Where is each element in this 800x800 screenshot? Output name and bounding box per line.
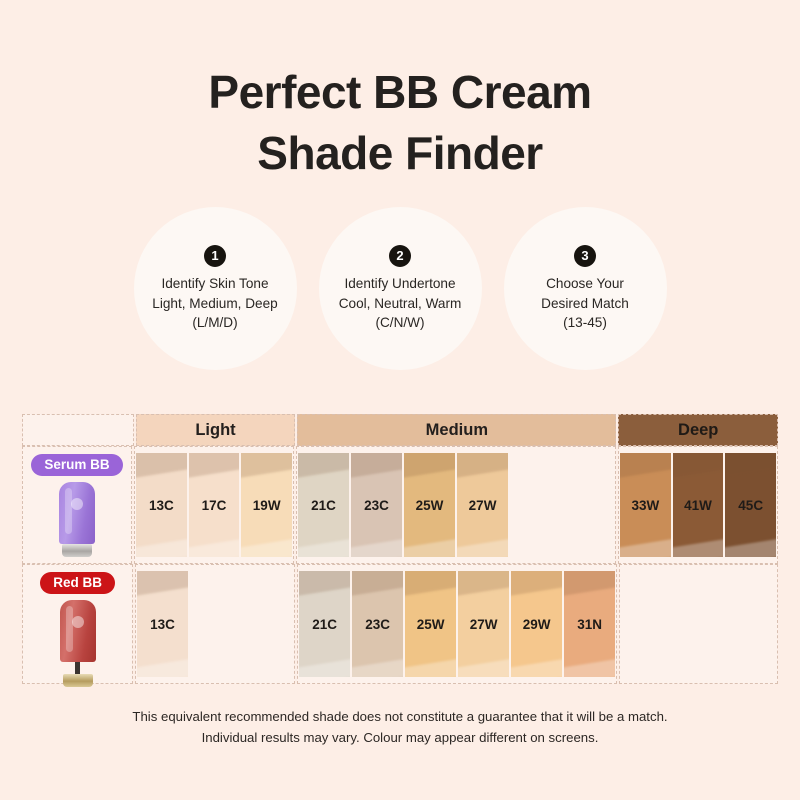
step-2-text: Identify Undertone Cool, Neutral, Warm (… <box>339 274 462 334</box>
swatch-code: 19W <box>253 498 281 513</box>
swatch-code: 25W <box>416 498 444 513</box>
disclaimer-line-2: Individual results may vary. Colour may … <box>0 727 800 748</box>
serum-bb-light-group: 13C 17C 19W <box>134 446 294 564</box>
serum-bb-medium-group: 21C 23C 25W 27W <box>296 446 616 564</box>
swatch-serum-25w[interactable]: 25W <box>404 453 455 557</box>
page-title-line-1: Perfect BB Cream <box>0 62 800 123</box>
step-1-number: 1 <box>204 245 226 267</box>
step-3-line-1: Choose Your <box>541 274 629 294</box>
swatch-code: 27W <box>469 498 497 513</box>
tone-header-deep: Deep <box>618 414 778 446</box>
swatch-serum-41w[interactable]: 41W <box>673 453 724 557</box>
swatch-code: 31N <box>577 617 602 632</box>
step-1-line-2: Light, Medium, Deep <box>152 294 277 314</box>
swatch-red-29w[interactable]: 29W <box>511 571 562 677</box>
swatch-serum-45c[interactable]: 45C <box>725 453 776 557</box>
product-label-cell-red-bb: Red BB <box>22 564 133 684</box>
step-3-text: Choose Your Desired Match (13-45) <box>541 274 629 334</box>
red-bb-light-group: 13C <box>135 564 295 684</box>
header-corner-cell <box>22 414 134 446</box>
tone-header-light: Light <box>136 414 296 446</box>
swatch-code: 33W <box>631 498 659 513</box>
swatch-serum-17c[interactable]: 17C <box>189 453 240 557</box>
swatch-code: 27W <box>470 617 498 632</box>
step-3-line-3: (13-45) <box>541 313 629 333</box>
swatch-serum-27w[interactable]: 27W <box>457 453 508 557</box>
swatch-code: 25W <box>417 617 445 632</box>
step-1-text: Identify Skin Tone Light, Medium, Deep (… <box>152 274 277 334</box>
swatch-serum-33w[interactable]: 33W <box>620 453 671 557</box>
swatch-red-27w[interactable]: 27W <box>458 571 509 677</box>
page-title: Perfect BB Cream Shade Finder <box>0 0 800 183</box>
step-2: 2 Identify Undertone Cool, Neutral, Warm… <box>319 207 482 370</box>
serum-medium-empty-slot <box>509 447 562 563</box>
swatch-serum-23c[interactable]: 23C <box>351 453 402 557</box>
product-pill-red-bb[interactable]: Red BB <box>40 572 115 594</box>
swatch-code: 21C <box>312 617 337 632</box>
product-row-serum-bb: Serum BB 13C 17C 19W <box>22 446 778 564</box>
swatch-code: 13C <box>150 617 175 632</box>
step-1-line-1: Identify Skin Tone <box>152 274 277 294</box>
swatch-code: 45C <box>738 498 763 513</box>
disclaimer-line-1: This equivalent recommended shade does n… <box>0 706 800 727</box>
step-1: 1 Identify Skin Tone Light, Medium, Deep… <box>134 207 297 370</box>
steps-row: 1 Identify Skin Tone Light, Medium, Deep… <box>0 207 800 370</box>
red-light-empty-slot <box>189 565 242 683</box>
red-bb-deep-group <box>619 564 778 684</box>
swatch-red-25w[interactable]: 25W <box>405 571 456 677</box>
swatch-serum-19w[interactable]: 19W <box>241 453 292 557</box>
step-2-line-1: Identify Undertone <box>339 274 462 294</box>
product-tube-red-bb-icon <box>60 600 96 687</box>
step-3-number: 3 <box>574 245 596 267</box>
step-2-line-2: Cool, Neutral, Warm <box>339 294 462 314</box>
step-2-number: 2 <box>389 245 411 267</box>
swatch-red-13c[interactable]: 13C <box>137 571 188 677</box>
product-label-cell-serum-bb: Serum BB <box>22 446 132 564</box>
shade-table: Light Medium Deep Serum BB 13C 17C <box>22 414 778 684</box>
swatch-red-31n[interactable]: 31N <box>564 571 615 677</box>
step-2-line-3: (C/N/W) <box>339 313 462 333</box>
swatch-red-21c[interactable]: 21C <box>299 571 350 677</box>
swatch-code: 13C <box>149 498 174 513</box>
serum-bb-deep-group: 33W 41W 45C <box>618 446 778 564</box>
swatch-serum-21c[interactable]: 21C <box>298 453 349 557</box>
step-3: 3 Choose Your Desired Match (13-45) <box>504 207 667 370</box>
product-pill-serum-bb[interactable]: Serum BB <box>31 454 122 476</box>
product-row-red-bb: Red BB 13C 21C <box>22 564 778 684</box>
tone-header-medium: Medium <box>297 414 616 446</box>
swatch-code: 29W <box>523 617 551 632</box>
swatch-code: 41W <box>684 498 712 513</box>
disclaimer: This equivalent recommended shade does n… <box>0 706 800 749</box>
step-1-line-3: (L/M/D) <box>152 313 277 333</box>
swatch-serum-13c[interactable]: 13C <box>136 453 187 557</box>
swatch-red-23c[interactable]: 23C <box>352 571 403 677</box>
page-title-line-2: Shade Finder <box>0 123 800 184</box>
swatch-code: 17C <box>202 498 227 513</box>
red-light-empty-slot <box>242 565 295 683</box>
product-tube-serum-bb-icon <box>59 482 95 557</box>
red-bb-medium-group: 21C 23C 25W 27W 29W 31N <box>297 564 617 684</box>
step-3-line-2: Desired Match <box>541 294 629 314</box>
shade-table-header-row: Light Medium Deep <box>22 414 778 446</box>
serum-medium-empty-slot <box>562 447 615 563</box>
swatch-code: 23C <box>364 498 389 513</box>
swatch-code: 23C <box>365 617 390 632</box>
swatch-code: 21C <box>311 498 336 513</box>
